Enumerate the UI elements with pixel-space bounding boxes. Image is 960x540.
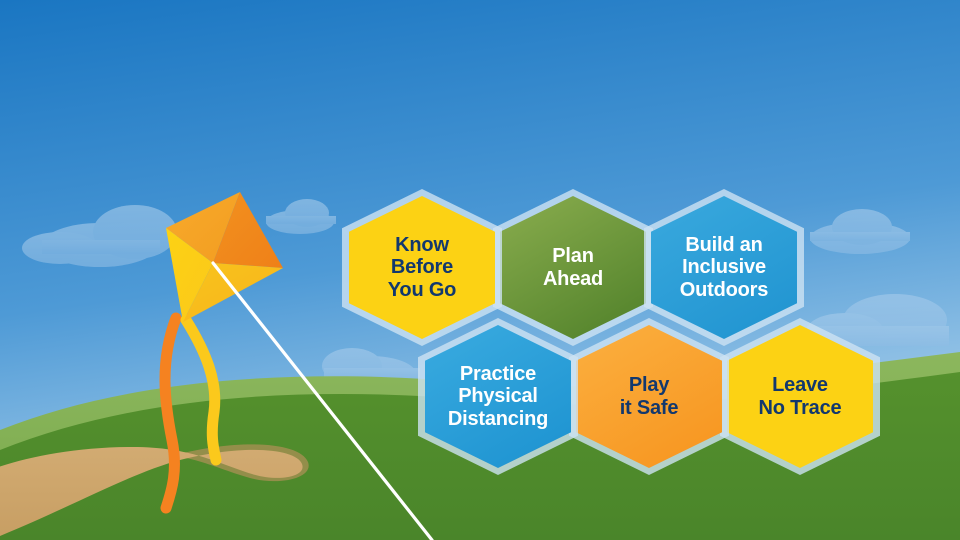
hexagon-label: Play it Safe bbox=[616, 374, 683, 419]
hexagon-label: Know Before You Go bbox=[384, 234, 460, 302]
hexagon-label: Plan Ahead bbox=[539, 245, 607, 290]
hexagon-play-it-safe[interactable]: Play it Safe bbox=[569, 318, 729, 475]
hexagon-label: Leave No Trace bbox=[755, 374, 846, 419]
hexagon-label: Practice Physical Distancing bbox=[444, 363, 552, 431]
hexagon-label: Build an Inclusive Outdoors bbox=[676, 234, 772, 302]
hexagon-practice-physical-distancing[interactable]: Practice Physical Distancing bbox=[418, 318, 578, 475]
infographic-poster: Know Before You GoPlan AheadBuild an Inc… bbox=[0, 0, 960, 540]
